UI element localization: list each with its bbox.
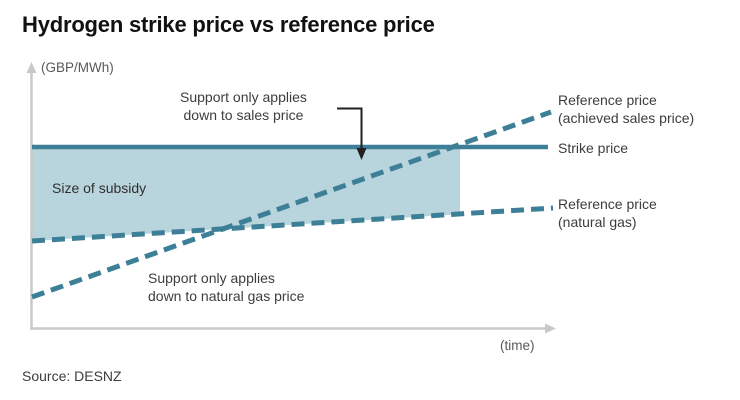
annotation-support-sales-line1: Support only applies (180, 89, 307, 107)
series-label-reference-price-sales-line2: (achieved sales price) (558, 110, 694, 128)
x-axis-time-label: (time) (500, 338, 535, 353)
annotation-support-gas-line1: Support only applies (148, 270, 304, 288)
annotation-support-gas-line2: down to natural gas price (148, 288, 304, 306)
annotation-support-sales-price: Support only applies down to sales price (180, 89, 307, 125)
series-label-reference-price-natural-gas-line2: (natural gas) (558, 214, 657, 232)
source-note: Source: DESNZ (22, 368, 122, 384)
subsidy-region-label: Size of subsidy (52, 180, 146, 196)
series-label-strike-price: Strike price (558, 140, 628, 158)
x-axis-arrowhead (545, 324, 556, 334)
series-label-reference-price-natural-gas-line1: Reference price (558, 196, 657, 214)
series-label-strike-price-line1: Strike price (558, 140, 628, 158)
chart-container: Hydrogen strike price vs reference price… (0, 0, 740, 400)
series-label-reference-price-sales-line1: Reference price (558, 92, 694, 110)
series-label-reference-price-sales: Reference price (achieved sales price) (558, 92, 694, 128)
annotation-elbow-arrow-line (337, 109, 362, 151)
y-axis-arrowhead (27, 62, 37, 73)
annotation-support-sales-line2: down to sales price (180, 107, 307, 125)
series-label-reference-price-natural-gas: Reference price (natural gas) (558, 196, 657, 232)
y-axis-unit-label: (GBP/MWh) (41, 60, 114, 75)
annotation-support-natural-gas-price: Support only applies down to natural gas… (148, 270, 304, 306)
